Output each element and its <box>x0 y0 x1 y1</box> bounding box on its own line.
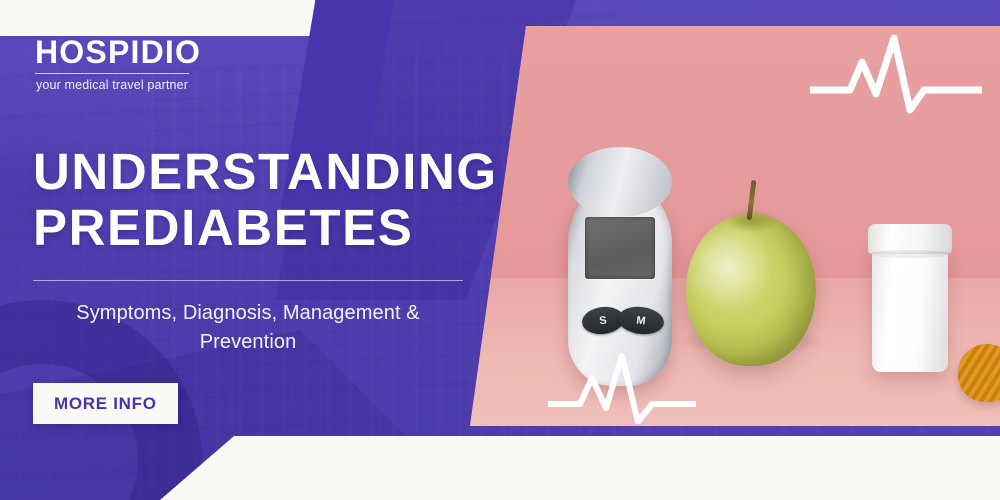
more-info-button[interactable]: MORE INFO <box>33 383 178 424</box>
pill-bottle <box>872 244 948 372</box>
content-divider <box>33 280 463 281</box>
pill-bottle-lid <box>868 224 952 254</box>
heartbeat-pulse-icon-bottom <box>548 352 696 424</box>
headline-line-1: UNDERSTANDING <box>33 144 553 200</box>
page-title: UNDERSTANDING PREDIABETES <box>33 144 553 256</box>
bottom-white-band <box>160 436 1000 500</box>
brand-tagline: your medical travel partner <box>36 78 553 92</box>
glucose-meter-display <box>585 217 655 279</box>
brand-rule <box>35 73 189 74</box>
glucose-meter-button-m: M <box>617 304 666 336</box>
hero-content: HOSPIDIO your medical travel partner UND… <box>33 36 553 424</box>
promotional-banner: S M HOSPIDIO your medical travel partner <box>0 0 1000 500</box>
glucose-meter-top <box>568 147 672 217</box>
headline-line-2: PREDIABETES <box>33 200 553 256</box>
brand-logo[interactable]: HOSPIDIO your medical travel partner <box>33 36 553 92</box>
brand-name: HOSPIDIO <box>35 36 553 68</box>
heartbeat-pulse-icon-top <box>810 32 982 114</box>
green-apple <box>686 214 816 366</box>
subheading: Symptoms, Diagnosis, Management & Preven… <box>33 299 463 357</box>
